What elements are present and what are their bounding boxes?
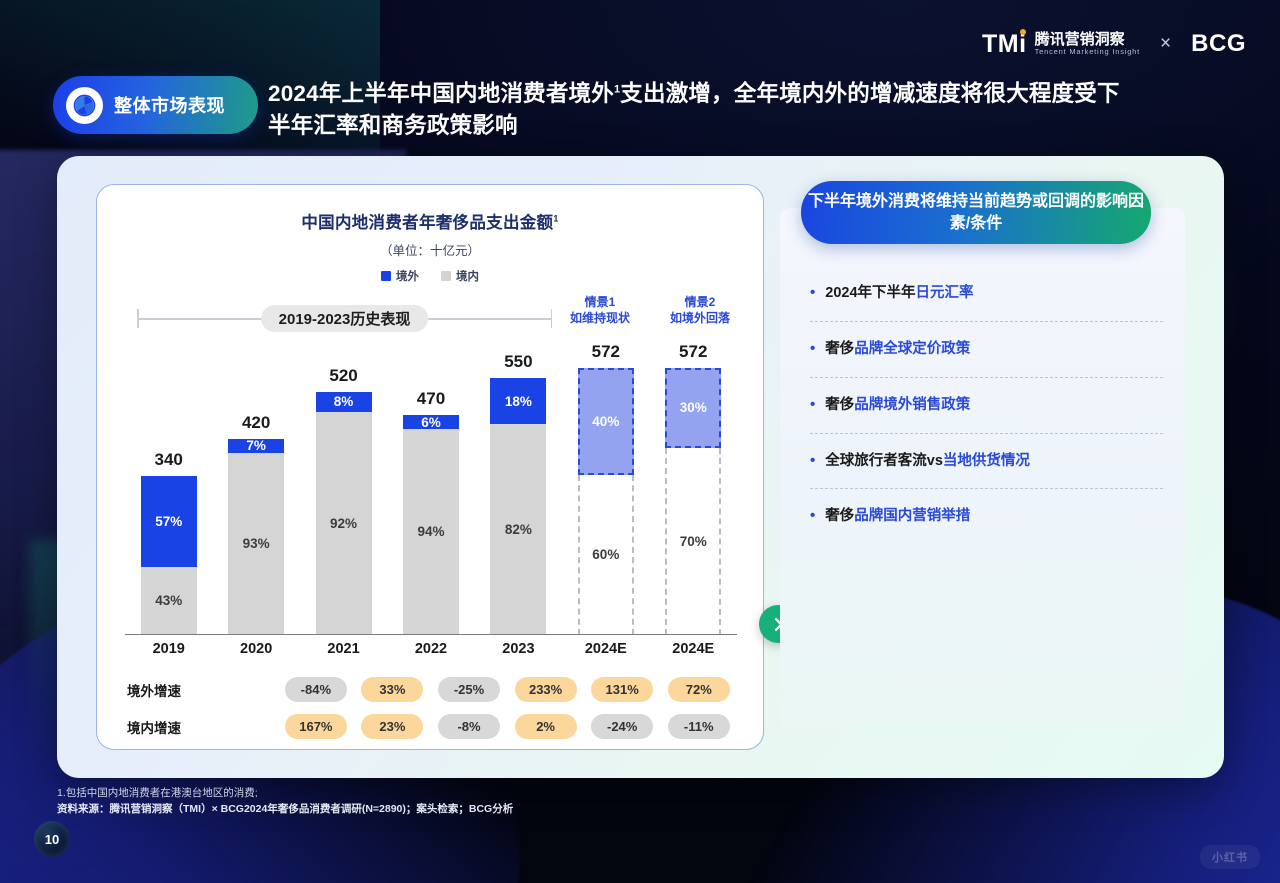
bar-stack: 7%93% [228, 439, 284, 635]
section-badge: 整体市场表现 [53, 76, 258, 134]
scenario-1-name: 情景1 [585, 295, 616, 309]
growth-value-pill: 23% [361, 714, 423, 739]
factor-item-emphasis: 品牌境外销售政策 [854, 397, 970, 413]
growth-cell: 23% [354, 714, 431, 739]
legend-swatch-domestic [441, 271, 451, 281]
history-bracket: 2019-2023历史表现 [137, 305, 552, 331]
growth-table-row: 境外增速-84%33%-25%233%131%72% [125, 671, 737, 708]
scenario-1-desc: 如维持现状 [570, 311, 630, 325]
bar-total-label: 470 [387, 389, 474, 409]
bar-segment-overseas: 40% [578, 368, 634, 475]
legend-item-domestic: 境内 [441, 268, 479, 284]
factor-item-text: 奢侈品牌国内营销举措 [825, 507, 970, 526]
bar-total-label: 550 [475, 352, 562, 372]
bar-stack: 8%92% [316, 392, 372, 635]
growth-cell: 2% [507, 714, 584, 739]
x-axis-label: 2024E [650, 641, 737, 657]
bar-segment-domestic: 82% [490, 424, 546, 635]
bullet-icon: • [810, 284, 815, 301]
factor-item-text: 全球旅行者客流vs当地供货情况 [825, 452, 1030, 471]
bar-stack: 6%94% [403, 415, 459, 635]
bar-stack: 30%70% [665, 368, 721, 635]
growth-cell: 131% [584, 677, 661, 702]
factor-item-plain: 2024年下半年 [825, 285, 915, 301]
growth-cell [201, 714, 278, 739]
bar-stack: 40%60% [578, 368, 634, 635]
bar-total-label: 340 [125, 450, 212, 470]
factor-item-plain: 全球旅行者客流vs [825, 453, 943, 469]
history-bracket-cap-right [551, 309, 553, 328]
growth-value-pill: -11% [668, 714, 730, 739]
footnote-line-1: 1.包括中国内地消费者在港澳台地区的消费; [57, 785, 513, 801]
bar-segment-domestic: 70% [665, 448, 721, 635]
scenario-2-desc: 如境外回落 [670, 311, 730, 325]
bar-column: 57230%70% [650, 343, 737, 635]
x-axis-label: 2019 [125, 641, 212, 657]
bar-segment-overseas: 30% [665, 368, 721, 448]
factor-list-item[interactable]: •奢侈品牌全球定价政策 [806, 322, 1163, 377]
bar-segment-overseas: 18% [490, 378, 546, 424]
x-axis-label: 2021 [300, 641, 387, 657]
growth-cell: 233% [507, 677, 584, 702]
factor-item-text: 奢侈品牌境外销售政策 [825, 396, 970, 415]
factor-item-text: 2024年下半年日元汇率 [825, 284, 973, 303]
bar-column: 34057%43% [125, 343, 212, 635]
x-axis-label: 2023 [475, 641, 562, 657]
chart-title-footnote-marker: 1 [553, 214, 558, 224]
growth-value-pill: 167% [285, 714, 347, 739]
tmi-dot-icon [1020, 29, 1026, 35]
growth-table-row: 境内增速167%23%-8%2%-24%-11% [125, 708, 737, 745]
footnote-line-2: 资料来源：腾讯营销洞察（TMI）× BCG2024年奢侈品消费者调研(N=289… [57, 801, 513, 817]
factor-item-emphasis: 品牌全球定价政策 [854, 341, 970, 357]
tmi-name-en: Tencent Marketing Insight [1035, 47, 1140, 56]
chart-unit-label: （单位：十亿元） [97, 240, 763, 259]
growth-row-label: 境内增速 [125, 717, 201, 737]
chart-x-axis-line [125, 634, 737, 636]
bullet-icon: • [810, 396, 815, 413]
growth-value-pill: -84% [285, 677, 347, 702]
bcg-logo: BCG [1191, 30, 1246, 58]
footnotes: 1.包括中国内地消费者在港澳台地区的消费; 资料来源：腾讯营销洞察（TMI）× … [57, 785, 513, 818]
growth-value-pill: -8% [438, 714, 500, 739]
bar-column: 4207%93% [212, 343, 299, 635]
legend-label-domestic: 境内 [456, 268, 479, 284]
factor-list-item[interactable]: •全球旅行者客流vs当地供货情况 [806, 434, 1163, 489]
bar-segment-overseas: 8% [316, 392, 372, 411]
growth-cell: -11% [660, 714, 737, 739]
chart-title-text: 中国内地消费者年奢侈品支出金额 [301, 214, 553, 232]
page-title-line1-b: 支出激增，全年境内外的增减速度将很大程度受下 [620, 81, 1119, 106]
factor-item-plain: 奢侈 [825, 397, 854, 413]
growth-cell: -24% [584, 714, 661, 739]
factor-item-emphasis: 品牌国内营销举措 [854, 508, 970, 524]
scenario-label-2: 情景2 如境外回落 [655, 295, 745, 327]
growth-value-pill: -24% [591, 714, 653, 739]
factor-item-plain: 奢侈 [825, 341, 854, 357]
bar-total-label: 572 [650, 342, 737, 362]
growth-row-cells: 167%23%-8%2%-24%-11% [201, 714, 737, 739]
factor-item-text: 奢侈品牌全球定价政策 [825, 340, 970, 359]
bar-stack: 57%43% [141, 476, 197, 635]
chart-legend: 境外 境内 [97, 268, 763, 284]
factor-item-plain: 奢侈 [825, 508, 854, 524]
growth-value-pill: 2% [515, 714, 577, 739]
bar-segment-overseas: 6% [403, 415, 459, 428]
chart-period-row: 2019-2023历史表现 情景1 如维持现状 情景2 如境外回落 [125, 303, 737, 333]
bullet-icon: • [810, 507, 815, 524]
bar-segment-domestic: 43% [141, 567, 197, 635]
factor-list-item[interactable]: •2024年下半年日元汇率 [806, 266, 1163, 321]
tmi-logo: TMi 腾讯营销洞察 Tencent Marketing Insight [982, 32, 1140, 57]
growth-rate-table: 境外增速-84%33%-25%233%131%72%境内增速167%23%-8%… [125, 671, 737, 745]
watermark-badge: 小红书 [1200, 845, 1260, 869]
legend-label-overseas: 境外 [396, 268, 419, 284]
bar-stack: 18%82% [490, 378, 546, 635]
bar-segment-domestic: 94% [403, 429, 459, 635]
x-axis-label: 2022 [387, 641, 474, 657]
bar-column: 55018%82% [475, 343, 562, 635]
factors-list: •2024年下半年日元汇率•奢侈品牌全球定价政策•奢侈品牌境外销售政策•全球旅行… [806, 266, 1163, 544]
bar-column: 5208%92% [300, 343, 387, 635]
tmi-wordmark: TMi [982, 32, 1027, 57]
growth-value-pill: 33% [361, 677, 423, 702]
growth-cell: -8% [431, 714, 508, 739]
factor-item-emphasis: 日元汇率 [916, 285, 974, 301]
content-card: 中国内地消费者年奢侈品支出金额1 （单位：十亿元） 境外 境内 2019-202… [57, 156, 1224, 778]
growth-cell: 33% [354, 677, 431, 702]
page-title-line1-a: 2024年上半年中国内地消费者境外 [268, 81, 614, 106]
growth-value-pill: 131% [591, 677, 653, 702]
scenario-2-name: 情景2 [685, 295, 716, 309]
history-bracket-label: 2019-2023历史表现 [261, 305, 429, 332]
factor-item-emphasis: 当地供货情况 [943, 453, 1030, 469]
page-title-line2: 半年汇率和商务政策影响 [268, 113, 518, 138]
chart-x-axis-labels: 201920202021202220232024E2024E [125, 641, 737, 657]
pie-chart-icon [66, 87, 103, 124]
x-axis-label: 2024E [562, 641, 649, 657]
growth-cell: -84% [278, 677, 355, 702]
tmi-name-cn: 腾讯营销洞察 [1035, 32, 1140, 48]
growth-cell: 72% [660, 677, 737, 702]
growth-row-cells: -84%33%-25%233%131%72% [201, 677, 737, 702]
legend-swatch-overseas [381, 271, 391, 281]
growth-value-pill: 233% [515, 677, 577, 702]
factors-panel: 下半年境外消费将维持当前趋势或回调的影响因素/条件 •2024年下半年日元汇率•… [780, 208, 1185, 728]
brand-logo-bar: TMi 腾讯营销洞察 Tencent Marketing Insight × B… [982, 30, 1246, 58]
scenario-label-1: 情景1 如维持现状 [555, 295, 645, 327]
logo-separator-icon: × [1160, 33, 1171, 55]
legend-item-overseas: 境外 [381, 268, 419, 284]
bar-segment-overseas: 7% [228, 439, 284, 453]
bar-segment-overseas: 57% [141, 476, 197, 567]
chart-panel: 中国内地消费者年奢侈品支出金额1 （单位：十亿元） 境外 境内 2019-202… [96, 184, 764, 750]
bar-segment-domestic: 60% [578, 475, 634, 635]
factor-list-item[interactable]: •奢侈品牌境外销售政策 [806, 378, 1163, 433]
page-title: 2024年上半年中国内地消费者境外1支出激增，全年境内外的增减速度将很大程度受下… [268, 78, 1218, 142]
factor-list-item[interactable]: •奢侈品牌国内营销举措 [806, 489, 1163, 544]
bar-total-label: 420 [212, 413, 299, 433]
growth-value-pill: 72% [668, 677, 730, 702]
tmi-names: 腾讯营销洞察 Tencent Marketing Insight [1035, 32, 1140, 57]
bullet-icon: • [810, 340, 815, 357]
x-axis-label: 2020 [212, 641, 299, 657]
growth-row-label: 境外增速 [125, 680, 201, 700]
bar-total-label: 572 [562, 342, 649, 362]
bar-segment-domestic: 92% [316, 412, 372, 636]
section-badge-label: 整体市场表现 [114, 92, 225, 118]
growth-cell: -25% [431, 677, 508, 702]
bar-segment-domestic: 93% [228, 453, 284, 635]
growth-cell: 167% [278, 714, 355, 739]
scenario-labels: 情景1 如维持现状 情景2 如境外回落 [555, 295, 745, 327]
page-number-badge: 10 [34, 821, 70, 857]
chart-title: 中国内地消费者年奢侈品支出金额1 [97, 209, 763, 233]
history-bracket-cap-left [137, 309, 139, 328]
chart-plot-area: 34057%43%4207%93%5208%92%4706%94%55018%8… [125, 343, 737, 635]
growth-cell [201, 677, 278, 702]
bar-column: 4706%94% [387, 343, 474, 635]
factors-panel-header: 下半年境外消费将维持当前趋势或回调的影响因素/条件 [801, 181, 1151, 244]
bar-total-label: 520 [300, 366, 387, 386]
bullet-icon: • [810, 452, 815, 469]
bar-series: 34057%43%4207%93%5208%92%4706%94%55018%8… [125, 343, 737, 635]
growth-value-pill: -25% [438, 677, 500, 702]
bar-column: 57240%60% [562, 343, 649, 635]
